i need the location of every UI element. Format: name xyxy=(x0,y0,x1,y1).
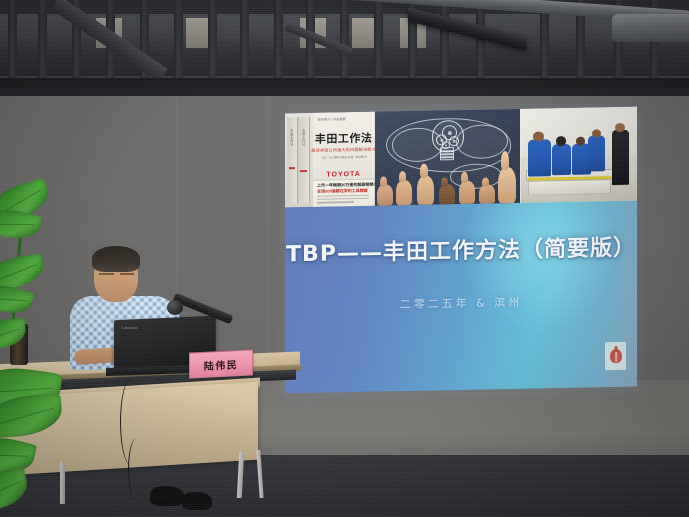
thumbs-up-hand xyxy=(377,184,393,205)
supervisor-dark xyxy=(612,130,629,185)
thought-cloud-small xyxy=(450,164,502,189)
slide-subtitle: 二零二五年 & 滨州 xyxy=(400,294,523,312)
lightbulb-icon xyxy=(432,120,462,159)
shoe xyxy=(150,486,184,506)
shoe xyxy=(182,492,212,510)
workbench-base xyxy=(528,179,611,196)
leaf-vein xyxy=(0,408,53,426)
thumbs-up-hand xyxy=(396,180,412,205)
book-spine: 丰田工作法 xyxy=(298,117,310,204)
nameplate[interactable]: 陆伟民 xyxy=(189,349,253,378)
worker-blue xyxy=(588,135,604,171)
ceiling xyxy=(0,0,689,104)
leaf-vein xyxy=(0,454,28,457)
speaker-hair xyxy=(92,246,140,272)
spine-accent xyxy=(289,167,295,169)
thumbs-up-hand xyxy=(439,184,455,204)
leaf-vein xyxy=(0,328,20,341)
leaf-vein xyxy=(0,481,21,500)
workshop-photo-image xyxy=(520,107,637,203)
microphone-head xyxy=(167,300,183,315)
thumb-finger xyxy=(501,151,509,170)
leaf-vein xyxy=(0,388,51,394)
glasses-left xyxy=(99,273,114,275)
power-cable xyxy=(128,438,145,500)
worker-head xyxy=(556,136,566,146)
leaf-vein xyxy=(0,224,34,225)
thumb-finger xyxy=(420,163,428,177)
photo-scene: 丰田工作法 丰田工作法 图书简介 / 内容提要 丰田工作法 解读丰田公司强大的问… xyxy=(0,0,689,517)
bulb-base xyxy=(440,147,454,160)
logo-mark-icon xyxy=(610,349,622,363)
book-band-line xyxy=(317,195,369,197)
spine-accent xyxy=(300,170,307,172)
thumb-finger xyxy=(461,172,468,183)
thumb-finger xyxy=(482,177,489,187)
book-spine-text: 丰田工作法 xyxy=(302,129,306,146)
book-cover-image: 丰田工作法 丰田工作法 图书简介 / 内容提要 丰田工作法 解读丰田公司强大的问… xyxy=(285,112,375,208)
book-top-line: 图书简介 / 内容提要 xyxy=(318,116,346,122)
bulb-ring xyxy=(441,153,453,154)
company-logo xyxy=(605,342,626,370)
worker-blue xyxy=(552,144,571,175)
book-obi-band: 上市一年畅销20万册的超级畅销书 全球500强都在学的工具精解 xyxy=(313,178,375,206)
worker-head xyxy=(592,129,601,138)
thumb-finger xyxy=(399,171,406,182)
laptop-brand-label: Lenovo xyxy=(122,325,138,330)
bulb-ring xyxy=(441,150,453,151)
thumbs-up-hand xyxy=(417,175,434,204)
worker-blue xyxy=(528,139,551,177)
book-band-line xyxy=(317,201,354,203)
book-spine: 丰田工作法 xyxy=(287,117,298,203)
thumbs-up-hand xyxy=(498,167,515,203)
book-front-face: 图书简介 / 内容提要 丰田工作法 解读丰田公司强大的问题解决能力 ［日］ OJ… xyxy=(313,112,375,207)
thumb-finger xyxy=(441,177,448,187)
leaf-vein xyxy=(0,264,37,283)
glasses-right xyxy=(120,273,134,275)
book-subtitle: 解读丰田公司强大的问题解决能力 xyxy=(311,146,374,153)
book-authors: ［日］ OJT 解决方案公司 著 · 李贞慧 译 xyxy=(320,155,366,160)
desk-leg xyxy=(60,462,65,504)
lightbulb-idea-image xyxy=(375,109,521,206)
leaf-vein xyxy=(0,298,27,302)
slide-header-images: 丰田工作法 丰田工作法 图书简介 / 内容提要 丰田工作法 解读丰田公司强大的问… xyxy=(285,107,637,208)
book-title: 丰田工作法 xyxy=(315,130,373,147)
thumbs-up-hand xyxy=(479,184,495,203)
ceiling-duct-box xyxy=(612,14,689,42)
thumbs-up-hand xyxy=(459,181,475,204)
book-spine-text: 丰田工作法 xyxy=(290,129,294,146)
projected-slide: 丰田工作法 丰田工作法 图书简介 / 内容提要 丰田工作法 解读丰田公司强大的问… xyxy=(285,107,637,394)
gear-icon xyxy=(449,136,459,146)
book-band-line xyxy=(317,198,369,200)
nameplate-text: 陆伟民 xyxy=(204,356,239,373)
bulb-ring xyxy=(441,156,453,157)
toyota-brand-text: TOYOTA xyxy=(326,171,361,179)
lamp-rod xyxy=(510,14,512,26)
slide-title: TBP——丰田工作方法（简要版） xyxy=(286,230,636,269)
thumb-finger xyxy=(380,176,387,186)
